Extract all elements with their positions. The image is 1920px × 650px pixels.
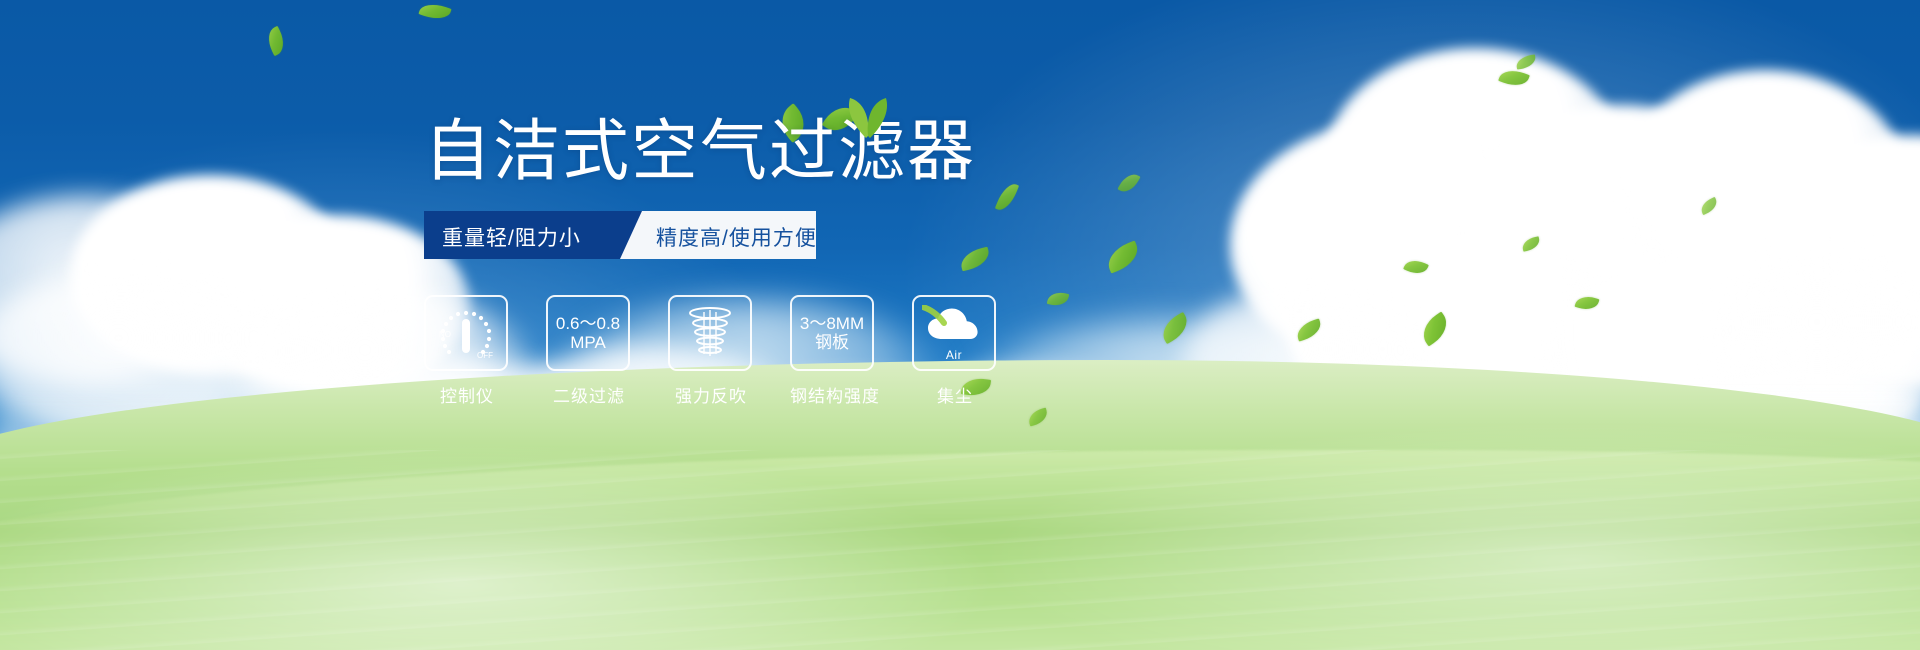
feature-icon-row: NO OFF 控制仪 0.6～0.8 MPA 二级过滤: [424, 295, 1124, 407]
gauge-controller-icon: NO OFF: [435, 304, 497, 362]
leaf-sprout-icon: [836, 96, 900, 138]
feature-item-backblow: 强力反吹: [668, 295, 754, 407]
feature-label: 二级过滤: [546, 382, 632, 407]
hero-banner: 自洁式空气过滤器 重量轻/阻力小 精度高/使用方便: [0, 0, 1920, 650]
air-cloud-icon: [922, 305, 986, 351]
feature-label: 钢结构强度: [790, 382, 876, 407]
feature-item-dust: Air 集尘: [912, 295, 998, 407]
gauge-min-label: NO: [439, 330, 451, 339]
feature-box: NO OFF: [424, 295, 508, 371]
steel-plate-text-icon: 3～8MM 钢板: [800, 314, 864, 352]
tag-secondary: 精度高/使用方便: [620, 211, 816, 259]
page-title: 自洁式空气过滤器: [424, 118, 1124, 185]
feature-box: 0.6～0.8 MPA: [546, 295, 630, 371]
tag-secondary-label: 精度高/使用方便: [656, 222, 817, 252]
feature-box: [668, 295, 752, 371]
banner-content: 自洁式空气过滤器 重量轻/阻力小 精度高/使用方便: [424, 118, 1124, 407]
gauge-max-label: OFF: [477, 351, 493, 360]
tag-primary-label: 重量轻/阻力小: [442, 222, 581, 252]
feature-label: 集尘: [912, 382, 998, 407]
air-badge-label: Air: [914, 348, 994, 362]
feature-tag-bar: 重量轻/阻力小 精度高/使用方便: [424, 211, 816, 259]
pressure-text-icon: 0.6～0.8 MPA: [556, 314, 620, 352]
feature-item-controller: NO OFF 控制仪: [424, 295, 510, 407]
feature-item-steel: 3～8MM 钢板 钢结构强度: [790, 295, 876, 407]
feature-item-pressure: 0.6～0.8 MPA 二级过滤: [546, 295, 632, 407]
feature-label: 控制仪: [424, 382, 510, 407]
feature-box: 3～8MM 钢板: [790, 295, 874, 371]
feature-label: 强力反吹: [668, 382, 754, 407]
feature-box: Air: [912, 295, 996, 371]
filter-coil-icon: [681, 304, 739, 362]
